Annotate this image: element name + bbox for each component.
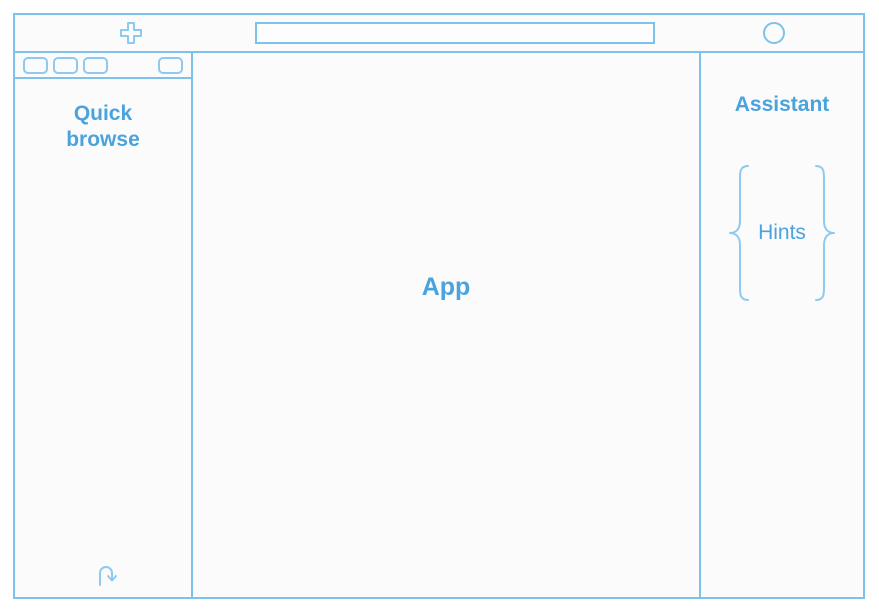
sidebar-content: Quick browse bbox=[15, 79, 191, 597]
sidebar-tool-3-button[interactable] bbox=[83, 57, 108, 74]
sidebar-tool-1-button[interactable] bbox=[23, 57, 48, 74]
app-content-panel: App bbox=[193, 53, 701, 597]
quick-browse-title-line-2: browse bbox=[43, 127, 163, 153]
sidebar-collapse-button[interactable] bbox=[158, 57, 183, 74]
hints-label: Hints bbox=[752, 221, 812, 245]
sidebar-toolbar bbox=[15, 53, 191, 79]
assistant-title: Assistant bbox=[735, 93, 830, 117]
plus-icon bbox=[118, 20, 144, 46]
quick-browse-title-line-1: Quick bbox=[43, 101, 163, 127]
account-button[interactable] bbox=[685, 15, 863, 51]
app-title: App bbox=[422, 273, 471, 302]
right-curly-brace-icon bbox=[812, 163, 838, 303]
address-bar-region bbox=[247, 15, 685, 51]
new-tab-button[interactable] bbox=[15, 15, 247, 51]
hints-block: Hints bbox=[726, 163, 838, 303]
top-bar bbox=[15, 15, 863, 53]
quick-browse-sidebar: Quick browse bbox=[15, 53, 193, 597]
left-curly-brace-icon bbox=[726, 163, 752, 303]
quick-browse-title: Quick browse bbox=[43, 101, 163, 154]
window-body: Quick browse App Assistant bbox=[15, 53, 863, 597]
sidebar-footer bbox=[15, 561, 191, 589]
browser-window-frame: Quick browse App Assistant bbox=[13, 13, 865, 599]
sidebar-tool-2-button[interactable] bbox=[53, 57, 78, 74]
u-turn-arrow-icon[interactable] bbox=[93, 561, 121, 589]
address-input[interactable] bbox=[255, 22, 655, 44]
avatar-circle-icon bbox=[763, 22, 785, 44]
assistant-panel: Assistant Hints bbox=[701, 53, 863, 597]
